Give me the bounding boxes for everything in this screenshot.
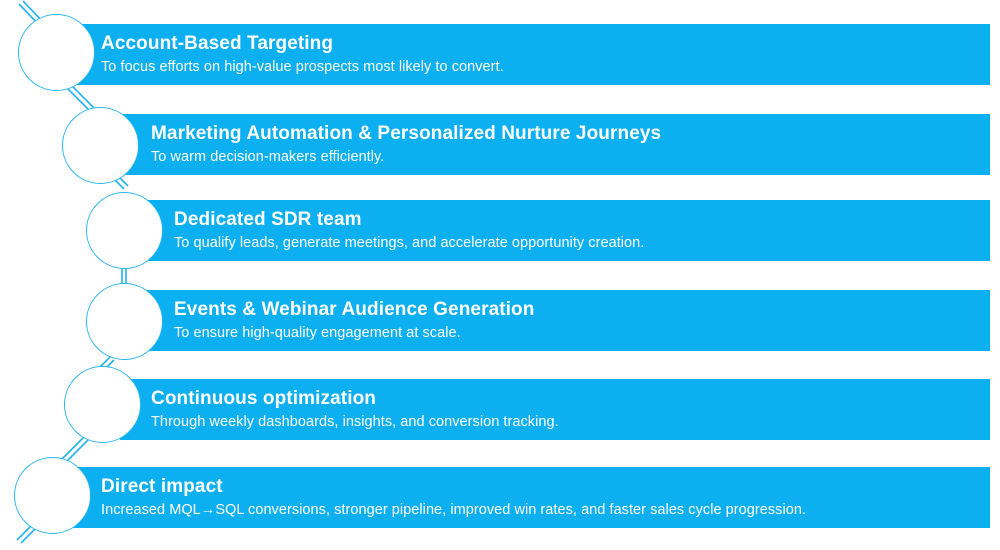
step-3-subtitle: To qualify leads, generate meetings, and… <box>174 234 990 253</box>
step-6-subtitle: Increased MQL→SQL conversions, stronger … <box>101 501 990 520</box>
step-5-circle[interactable] <box>64 366 141 443</box>
diagram-canvas: Account-Based Targeting To focus efforts… <box>0 0 1000 550</box>
step-6-title: Direct impact <box>101 476 990 498</box>
step-2-bar: Marketing Automation & Personalized Nurt… <box>118 114 990 175</box>
step-6-bar: Direct impact Increased MQL→SQL conversi… <box>70 467 990 528</box>
step-1-bar: Account-Based Targeting To focus efforts… <box>70 24 990 85</box>
step-2-subtitle: To warm decision-makers efficiently. <box>151 148 990 167</box>
step-1-circle[interactable] <box>18 14 95 91</box>
step-2-circle[interactable] <box>62 107 139 184</box>
step-3-bar: Dedicated SDR team To qualify leads, gen… <box>142 200 990 261</box>
step-1-subtitle: To focus efforts on high-value prospects… <box>101 58 990 77</box>
step-1-title: Account-Based Targeting <box>101 33 990 55</box>
step-4-title: Events & Webinar Audience Generation <box>174 299 990 321</box>
step-4-subtitle: To ensure high-quality engagement at sca… <box>174 324 990 343</box>
step-3-title: Dedicated SDR team <box>174 209 990 231</box>
step-6-circle[interactable] <box>14 457 91 534</box>
step-2-title: Marketing Automation & Personalized Nurt… <box>151 123 990 145</box>
step-5-bar: Continuous optimization Through weekly d… <box>120 379 990 440</box>
step-4-bar: Events & Webinar Audience Generation To … <box>142 290 990 351</box>
step-4-circle[interactable] <box>86 283 163 360</box>
step-3-circle[interactable] <box>86 192 163 269</box>
step-5-subtitle: Through weekly dashboards, insights, and… <box>151 413 990 432</box>
step-5-title: Continuous optimization <box>151 388 990 410</box>
